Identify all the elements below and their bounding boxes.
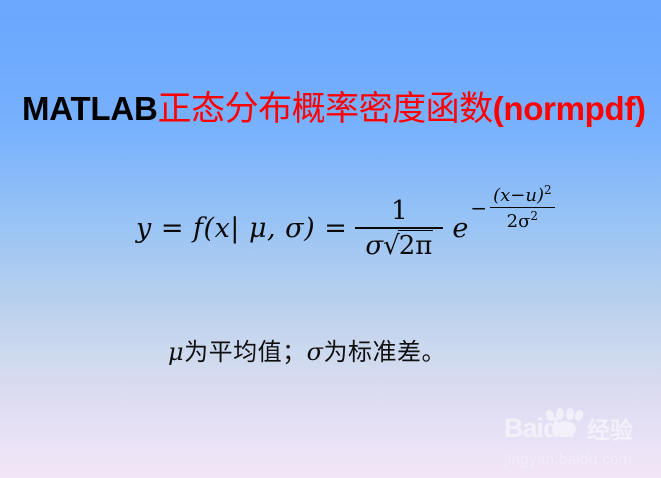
presentation-slide: MATLAB正态分布概率密度函数(normpdf) y = f(x| μ, σ)… — [0, 0, 661, 478]
baidu-jingyan-watermark: Baidu 经验 jingyan.baidu.com — [504, 408, 654, 474]
paw-print-icon — [544, 408, 584, 438]
exponent-numerator: (x−u)2 — [490, 183, 555, 207]
paw-toe-3 — [566, 408, 574, 420]
paw-toe-4 — [574, 409, 585, 422]
formula-exponential-base: e — [452, 213, 468, 244]
title-cjk-text: 正态分布概率密度函数 — [158, 90, 493, 128]
watermark-url: jingyan.baidu.com — [504, 451, 654, 468]
title-function-name: (normpdf) — [493, 90, 646, 127]
title-latin-prefix: MATLAB — [22, 90, 158, 127]
paw-toe-1 — [545, 409, 556, 422]
watermark-brand-cjk: 经验 — [587, 419, 633, 442]
caption-sigma-description: 为标准差。 — [324, 338, 447, 366]
formula-exponent: − (x−u)2 2σ2 — [470, 183, 554, 233]
fraction-denominator: σ√2π — [361, 229, 437, 261]
denominator-sigma: σ — [365, 231, 383, 261]
formula-fraction: 1 σ√2π — [355, 196, 443, 261]
fraction-numerator: 1 — [385, 196, 414, 227]
paw-pad — [552, 421, 576, 437]
slide-title: MATLAB正态分布概率密度函数(normpdf) — [22, 92, 661, 128]
exponent-numerator-power: 2 — [544, 183, 552, 197]
exponent-denominator: 2σ2 — [507, 208, 538, 232]
watermark-brand-latin: Baidu — [504, 415, 574, 442]
exponent-denominator-expr: 2σ — [507, 211, 531, 232]
caption-mu-symbol: μ — [168, 338, 184, 366]
normpdf-formula: y = f(x| μ, σ) = 1 σ√2π e − (x−u)2 2σ2 — [136, 196, 555, 261]
exponent-minus-sign: − — [470, 196, 487, 220]
caption-mu-description: 为平均值； — [184, 338, 307, 366]
exponent-denominator-power: 2 — [530, 209, 538, 223]
paw-toe-2 — [556, 408, 564, 420]
formula-caption: μ为平均值；σ为标准差。 — [168, 332, 446, 367]
caption-sigma-symbol: σ — [307, 338, 324, 366]
exponent-numerator-expr: (x−u) — [493, 185, 544, 206]
formula-left-hand-side: y = f(x| μ, σ) = — [136, 213, 347, 244]
radicand: 2π — [398, 230, 434, 261]
exponent-fraction: (x−u)2 2σ2 — [490, 183, 555, 233]
watermark-logo-row: Baidu 经验 — [504, 408, 654, 442]
